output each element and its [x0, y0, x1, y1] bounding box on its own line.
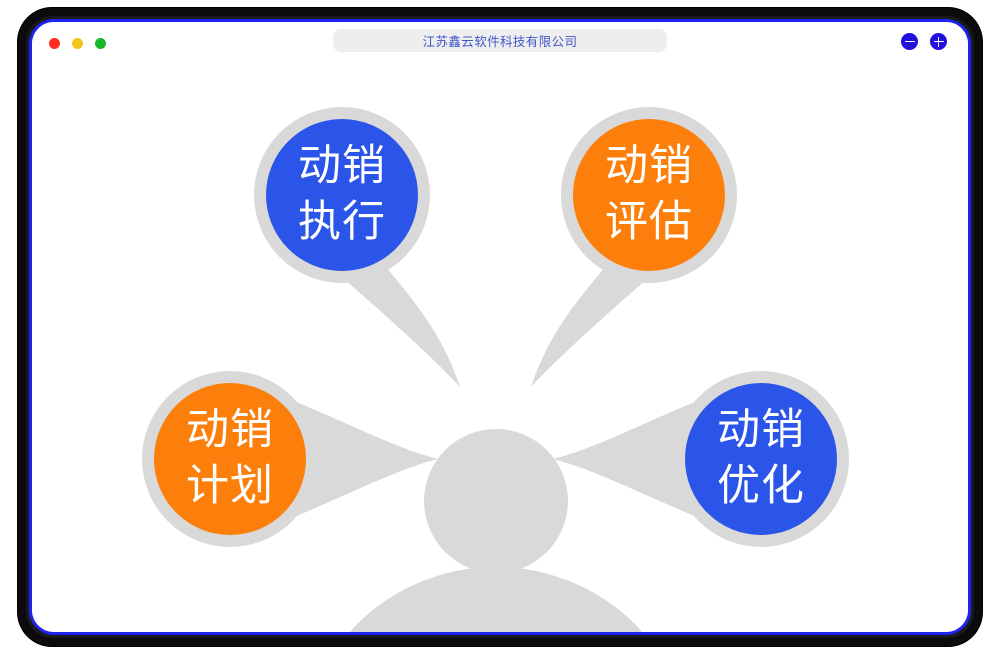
radial-speech-bubble-diagram: 动销 执行 动销 评估 动销 计划 动销 优化	[32, 69, 968, 632]
person-head-icon	[424, 429, 568, 573]
maximize-window-button[interactable]	[95, 38, 106, 49]
node-plan-label-line1: 动销	[186, 405, 274, 455]
window-action-buttons	[901, 33, 947, 50]
window-title: 江苏鑫云软件科技有限公司	[423, 31, 578, 50]
node-optimize-label-line1: 动销	[717, 405, 805, 455]
minimize-window-button[interactable]	[72, 38, 83, 49]
tail-evaluate-pointer	[531, 265, 647, 387]
minus-icon	[905, 41, 915, 43]
person-body-icon	[342, 567, 650, 632]
node-evaluate-label-line1: 动销	[605, 141, 693, 191]
tail-execute-pointer	[344, 265, 460, 387]
node-execute-label-line1: 动销	[298, 141, 386, 191]
traffic-light-controls	[49, 38, 106, 49]
close-window-button[interactable]	[49, 38, 60, 49]
node-plan-label-line2: 计划	[186, 461, 274, 511]
diagram-canvas: 动销 执行 动销 评估 动销 计划 动销 优化	[32, 69, 968, 632]
title-pill[interactable]: 江苏鑫云软件科技有限公司	[333, 29, 667, 52]
minus-button[interactable]	[901, 33, 918, 50]
node-evaluate-label-line2: 评估	[605, 197, 693, 247]
device-frame: 江苏鑫云软件科技有限公司	[18, 8, 982, 646]
node-execute-label-line2: 执行	[298, 197, 386, 247]
title-bar: 江苏鑫云软件科技有限公司	[32, 22, 968, 70]
node-optimize-label-line2: 优化	[717, 461, 805, 511]
tail-plan-pointer	[294, 401, 438, 517]
tail-optimize-pointer	[553, 401, 697, 517]
plus-button[interactable]	[930, 33, 947, 50]
app-window: 江苏鑫云软件科技有限公司	[32, 22, 968, 632]
